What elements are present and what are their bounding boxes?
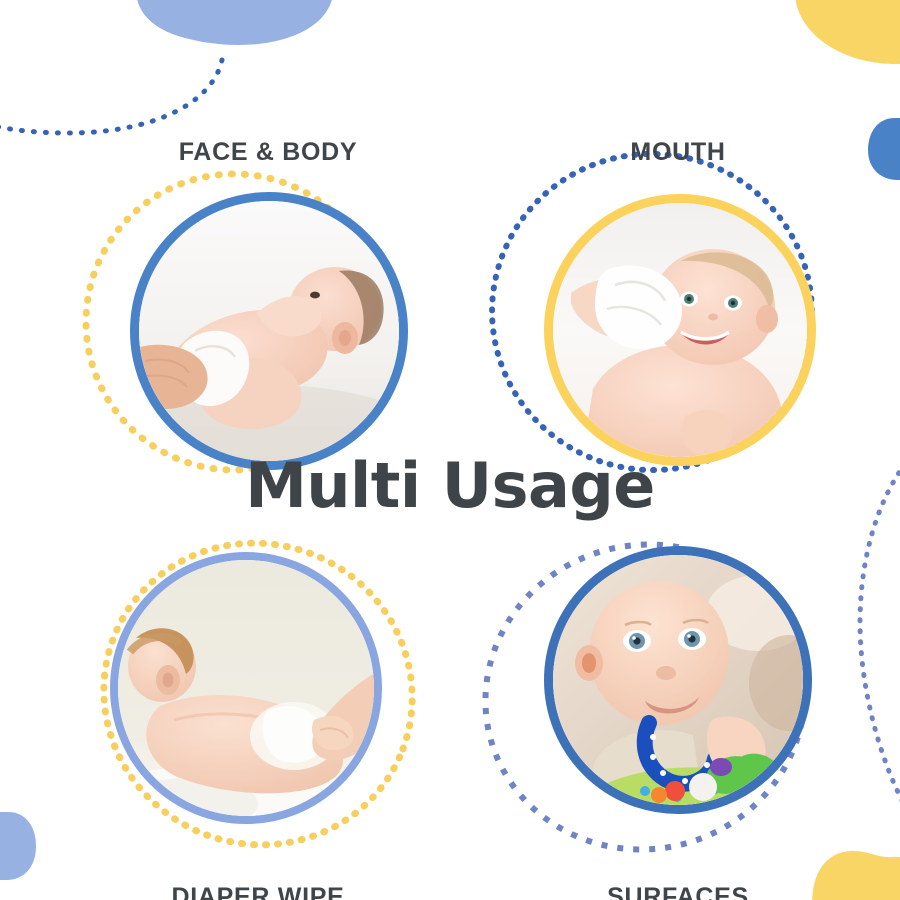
- top-right-blob-yellow-shape: [790, 0, 900, 27]
- feature-diaper-wipe[interactable]: DIAPER WIPE: [68, 520, 448, 900]
- feature-photo-mouth[interactable]: [553, 203, 807, 457]
- top-blob-periwinkle-shape: [136, 0, 334, 45]
- feature-surfaces[interactable]: SURFACES: [488, 520, 868, 900]
- feature-label-diaper-wipe: DIAPER WIPE: [68, 883, 448, 900]
- feature-label-mouth: MOUTH: [488, 138, 868, 167]
- multi-usage-infographic: FACE & BODY: [0, 0, 900, 900]
- feature-label-face-body: FACE & BODY: [78, 138, 458, 167]
- bottom-left-pill-blue-shape: [0, 812, 36, 880]
- feature-photo-surfaces[interactable]: [553, 555, 803, 805]
- top-right-blob-yellow-body: [795, 0, 900, 64]
- feature-photo-face-body[interactable]: [139, 201, 399, 461]
- page-title: Multi Usage: [0, 455, 900, 517]
- right-pill-blue-shape: [868, 118, 900, 180]
- feature-photo-diaper-wipe[interactable]: [118, 560, 374, 816]
- feature-label-surfaces: SURFACES: [488, 883, 868, 900]
- top-blob-periwinkle-body: [150, 0, 334, 40]
